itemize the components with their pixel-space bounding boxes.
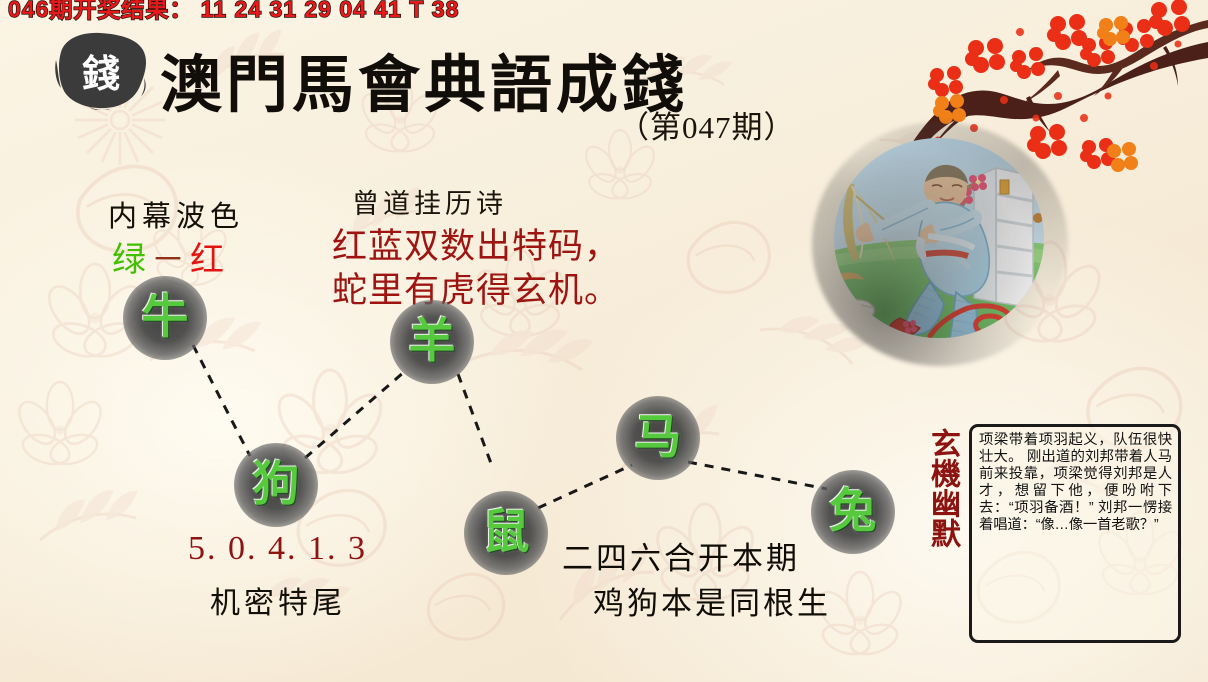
ink-smudge xyxy=(812,122,1068,366)
issue-number: （第047期） xyxy=(618,102,796,147)
draw-result-text: 046期开奖结果： 11 24 31 29 04 41 T 38 xyxy=(8,0,459,21)
illustration-medallion xyxy=(828,132,1050,348)
draw-result-banner: 046期开奖结果： 11 24 31 29 04 41 T 38 xyxy=(0,0,1208,24)
zodiac-char-rabbit: 兔 xyxy=(830,489,877,536)
zodiac-char-ox: 牛 xyxy=(142,295,189,342)
zodiac-char-dog: 狗 xyxy=(253,462,300,509)
zodiac-char-horse: 马 xyxy=(635,415,682,462)
lottery-poster: 046期开奖结果： 11 24 31 29 04 41 T 38 錢 澳門馬會典… xyxy=(0,0,1208,682)
zodiac-char-goat: 羊 xyxy=(409,319,456,366)
inside-color-values: 绿－红 xyxy=(112,232,227,281)
inside-color-red: 红 xyxy=(190,242,227,279)
xuanji-vertical-label: 玄機幽默 xyxy=(918,428,960,548)
secret-tail-label: 机密特尾 xyxy=(210,578,346,622)
inside-color-label: 内幕波色 xyxy=(108,193,244,235)
story-text: 项梁带着项羽起义，队伍很快壮大。 刚出道的刘邦带着人马前来投靠，项梁觉得刘邦是人… xyxy=(979,432,1172,534)
link-dog-goat xyxy=(305,372,404,458)
phrase-line-1: 二四六合开本期 xyxy=(562,533,800,578)
zodiac-circle-goat[interactable]: 羊 xyxy=(390,300,474,384)
page-title: 澳門馬會典語成錢 xyxy=(160,34,688,124)
link-ox-dog xyxy=(193,345,250,456)
zodiac-circle-ox[interactable]: 牛 xyxy=(123,276,207,360)
inside-color-green: 绿 xyxy=(112,242,149,279)
ink-seal-logo: 錢 xyxy=(48,30,152,110)
zodiac-circle-rabbit[interactable]: 兔 xyxy=(811,470,895,554)
zodiac-circle-rat[interactable]: 鼠 xyxy=(464,491,548,575)
poem-line-2: 蛇里有虎得玄机。 xyxy=(332,262,620,313)
ink-seal-character: 錢 xyxy=(48,30,152,110)
story-textbox: 项梁带着项羽起义，队伍很快壮大。 刚出道的刘邦带着人马前来投靠，项梁觉得刘邦是人… xyxy=(969,424,1181,643)
zodiac-circle-horse[interactable]: 马 xyxy=(616,396,700,480)
inside-color-separator: － xyxy=(149,242,190,279)
phrase-line-2: 鸡狗本是同根生 xyxy=(593,578,831,623)
poem-title: 曾道挂历诗 xyxy=(352,182,507,221)
zodiac-circle-dog[interactable]: 狗 xyxy=(234,443,318,527)
link-rat-horse xyxy=(538,465,632,508)
zodiac-char-rat: 鼠 xyxy=(483,510,530,557)
secret-tail-numbers: 5. 0. 4. 1. 3 xyxy=(188,530,367,568)
link-horse-rabbit xyxy=(688,462,827,489)
link-goat-rat xyxy=(458,374,492,466)
